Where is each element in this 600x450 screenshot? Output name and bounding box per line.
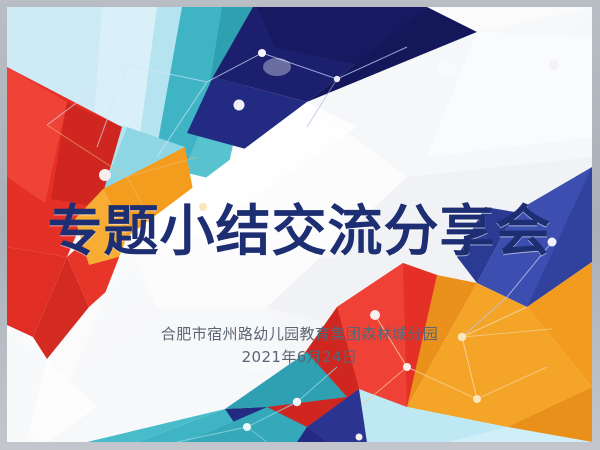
geometric-background — [7, 7, 592, 442]
slide-canvas: 专题小结交流分享会 合肥市宿州路幼儿园教育集团森林城分园 2021年6月24日 — [7, 7, 592, 442]
slide-frame: 专题小结交流分享会 合肥市宿州路幼儿园教育集团森林城分园 2021年6月24日 — [0, 0, 600, 450]
